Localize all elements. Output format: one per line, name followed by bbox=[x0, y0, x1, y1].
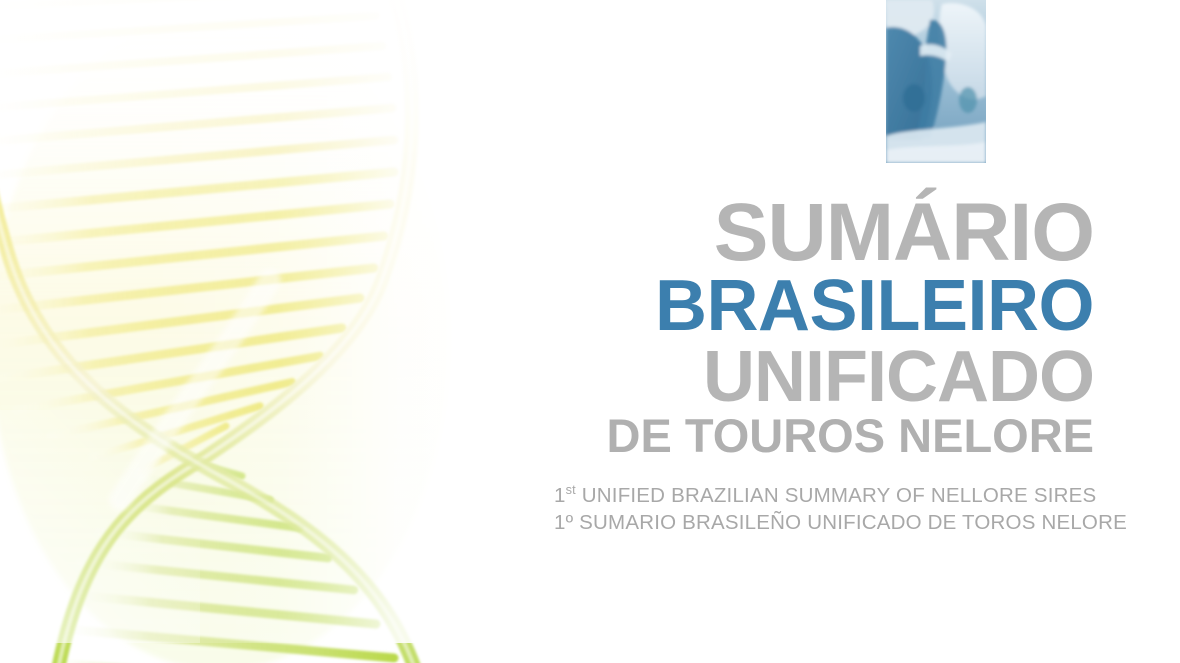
helix-rungs-upper bbox=[0, 0, 394, 474]
helix-backbone-b bbox=[0, 0, 422, 663]
title-line-brasileiro: BRASILEIRO bbox=[554, 274, 1094, 339]
subtitle-english-text: UNIFIED BRAZILIAN SUMMARY OF NELLORE SIR… bbox=[576, 484, 1096, 507]
artwork-bottom-left-fade bbox=[0, 410, 200, 643]
title-block: SUMÁRIO BRASILEIRO UNIFICADO DE TOUROS N… bbox=[554, 196, 1094, 536]
helix-specular-highlight bbox=[120, 280, 270, 500]
artwork-top-fade bbox=[0, 0, 440, 210]
helix-backbone-b-highlight bbox=[0, 0, 422, 663]
dna-helix-svg bbox=[0, 0, 490, 663]
cattle-photo-svg bbox=[886, 0, 986, 163]
title-line-de-touros-nelore: DE TOUROS NELORE bbox=[554, 415, 1094, 457]
helix-rungs-lower bbox=[44, 454, 408, 663]
artwork-right-fade bbox=[150, 0, 490, 643]
publication-cover: SUMÁRIO BRASILEIRO UNIFICADO DE TOUROS N… bbox=[0, 0, 1180, 663]
subtitle-english-ordinal: 1 bbox=[554, 484, 566, 507]
helix-backbone-a-highlight bbox=[56, 0, 412, 663]
subtitle-english-ordinal-suffix: st bbox=[566, 482, 576, 497]
title-line-unificado: UNIFICADO bbox=[554, 345, 1094, 410]
subtitle-english: 1st UNIFIED BRAZILIAN SUMMARY OF NELLORE… bbox=[554, 482, 1094, 509]
title-line-sumario: SUMÁRIO bbox=[554, 196, 1094, 270]
subtitle-spanish: 1º SUMARIO BRASILEÑO UNIFICADO DE TOROS … bbox=[554, 509, 1094, 536]
subtitle-block: 1st UNIFIED BRAZILIAN SUMMARY OF NELLORE… bbox=[554, 482, 1094, 536]
helix-backbone-a bbox=[56, 0, 412, 663]
nellore-cattle-photo bbox=[886, 0, 986, 163]
dna-double-helix-illustration bbox=[0, 0, 490, 663]
